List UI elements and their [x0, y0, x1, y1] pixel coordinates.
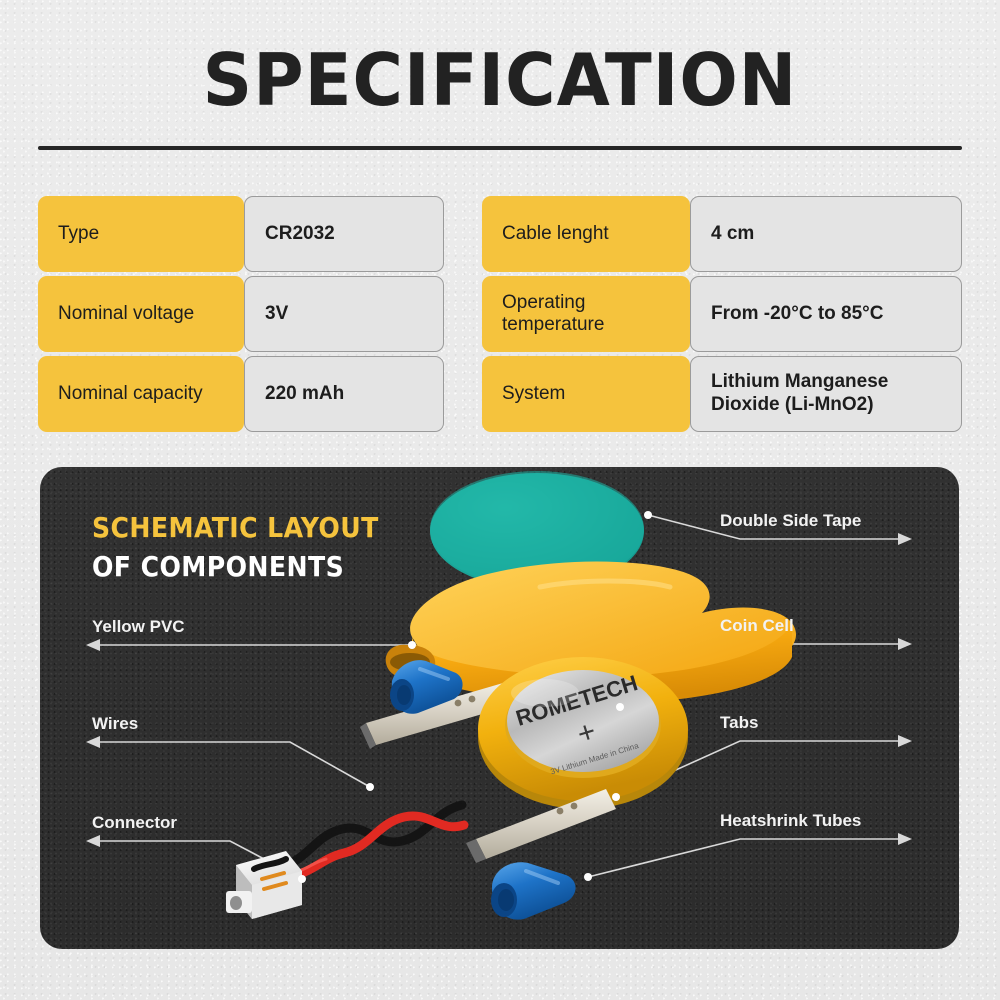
callout-label-tabs: Tabs: [720, 713, 758, 733]
page-title: SPECIFICATION: [0, 44, 1000, 116]
callout-label-heatshrink-tubes: Heatshrink Tubes: [720, 811, 861, 831]
spec-value-system: Lithium Manganese Dioxide (Li-MnO2): [690, 356, 962, 432]
spec-value-nominal-capacity: 220 mAh: [244, 356, 444, 432]
spec-key-type: Type: [38, 196, 244, 272]
coin-cell: ROMETECH + 3V Lithium Made in China: [478, 657, 688, 809]
spec-key-system: System: [482, 356, 690, 432]
spec-value-nominal-voltage: 3V: [244, 276, 444, 352]
schematic-panel: SCHEMATIC LAYOUT OF COMPONENTS: [40, 467, 959, 949]
column-gap: [444, 356, 482, 432]
column-gap: [444, 196, 482, 272]
callout-label-wires: Wires: [92, 714, 138, 734]
wire-pair: [282, 805, 464, 875]
spec-key-nominal-capacity: Nominal capacity: [38, 356, 244, 432]
specification-table: Type CR2032 Cable lenght 4 cm Nominal vo…: [38, 196, 962, 432]
specification-page: SPECIFICATION Type CR2032 Cable lenght 4…: [0, 0, 1000, 1000]
spec-value-cable-lenght: 4 cm: [690, 196, 962, 272]
spec-value-type: CR2032: [244, 196, 444, 272]
exploded-view-illustration: ROMETECH + 3V Lithium Made in China: [40, 467, 959, 949]
callout-label-yellow-pvc: Yellow PVC: [92, 617, 185, 637]
callout-label-coin-cell: Coin Cell: [720, 616, 794, 636]
connector: [226, 851, 302, 919]
title-divider: [38, 146, 962, 150]
spec-key-operating-temperature: Operating temperature: [482, 276, 690, 352]
spec-key-nominal-voltage: Nominal voltage: [38, 276, 244, 352]
spec-key-cable-lenght: Cable lenght: [482, 196, 690, 272]
heatshrink-tube-lower: [491, 862, 576, 919]
callout-label-connector: Connector: [92, 813, 177, 833]
column-gap: [444, 276, 482, 352]
spec-value-operating-temperature: From -20°C to 85°C: [690, 276, 962, 352]
callout-label-double-side-tape: Double Side Tape: [720, 511, 861, 531]
